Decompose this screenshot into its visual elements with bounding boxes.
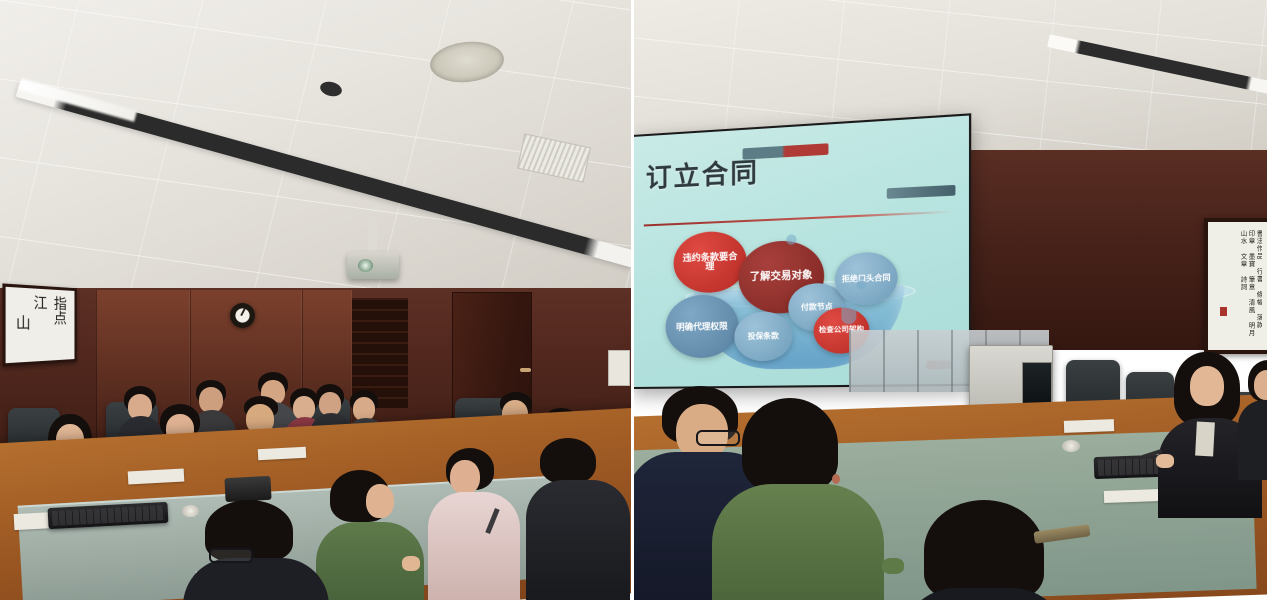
framed-calligraphy-scroll: 書法作品 行書 條幅 落款 印章 墨寶 筆意 清風 明月 山水 文章 詩詞 [1204,218,1267,354]
handout-paper [1104,489,1160,503]
left-photo-panel: 指点 江 山 [0,0,631,600]
door-handle-icon[interactable] [520,368,531,372]
eyeglasses-icon [696,430,740,446]
ceiling-projector [347,252,399,279]
projector-lens-icon [358,259,373,272]
conference-microphone [224,476,271,502]
calligraphy-text: 書法作品 行書 條幅 落款 印章 墨寶 筆意 清風 明月 山水 文章 詩詞 [1214,230,1262,342]
table-puck-device [182,505,199,517]
slide-accent-rule [644,211,951,227]
calligraphy-column-right: 指点 [48,295,66,325]
artist-seal-icon [1220,307,1227,316]
mouse[interactable] [1062,440,1080,452]
slide-bubble-1: 违约条款要合理 [674,230,747,294]
photo-composite: 指点 江 山 [0,0,1267,600]
slide-corner-tag [887,185,956,199]
wall-notice-board [608,350,630,386]
eyeglasses-icon [209,548,253,563]
slide-header-tag [743,143,829,159]
slide-dot-icon [841,301,856,324]
calligraphy-plaque: 指点 江 山 [2,283,76,366]
right-photo-panel: 订立合同 违约条款要合理 了解交易对象 明确代理权限 投保条款 付款节点 拒绝口… [634,0,1267,600]
presenter-hand [1156,454,1174,468]
wall-clock [230,303,255,328]
earring-icon [832,474,840,484]
handout-paper [1064,419,1114,433]
calligraphy-column-mid: 江 [28,294,47,310]
calligraphy-column-left: 山 [10,314,30,330]
